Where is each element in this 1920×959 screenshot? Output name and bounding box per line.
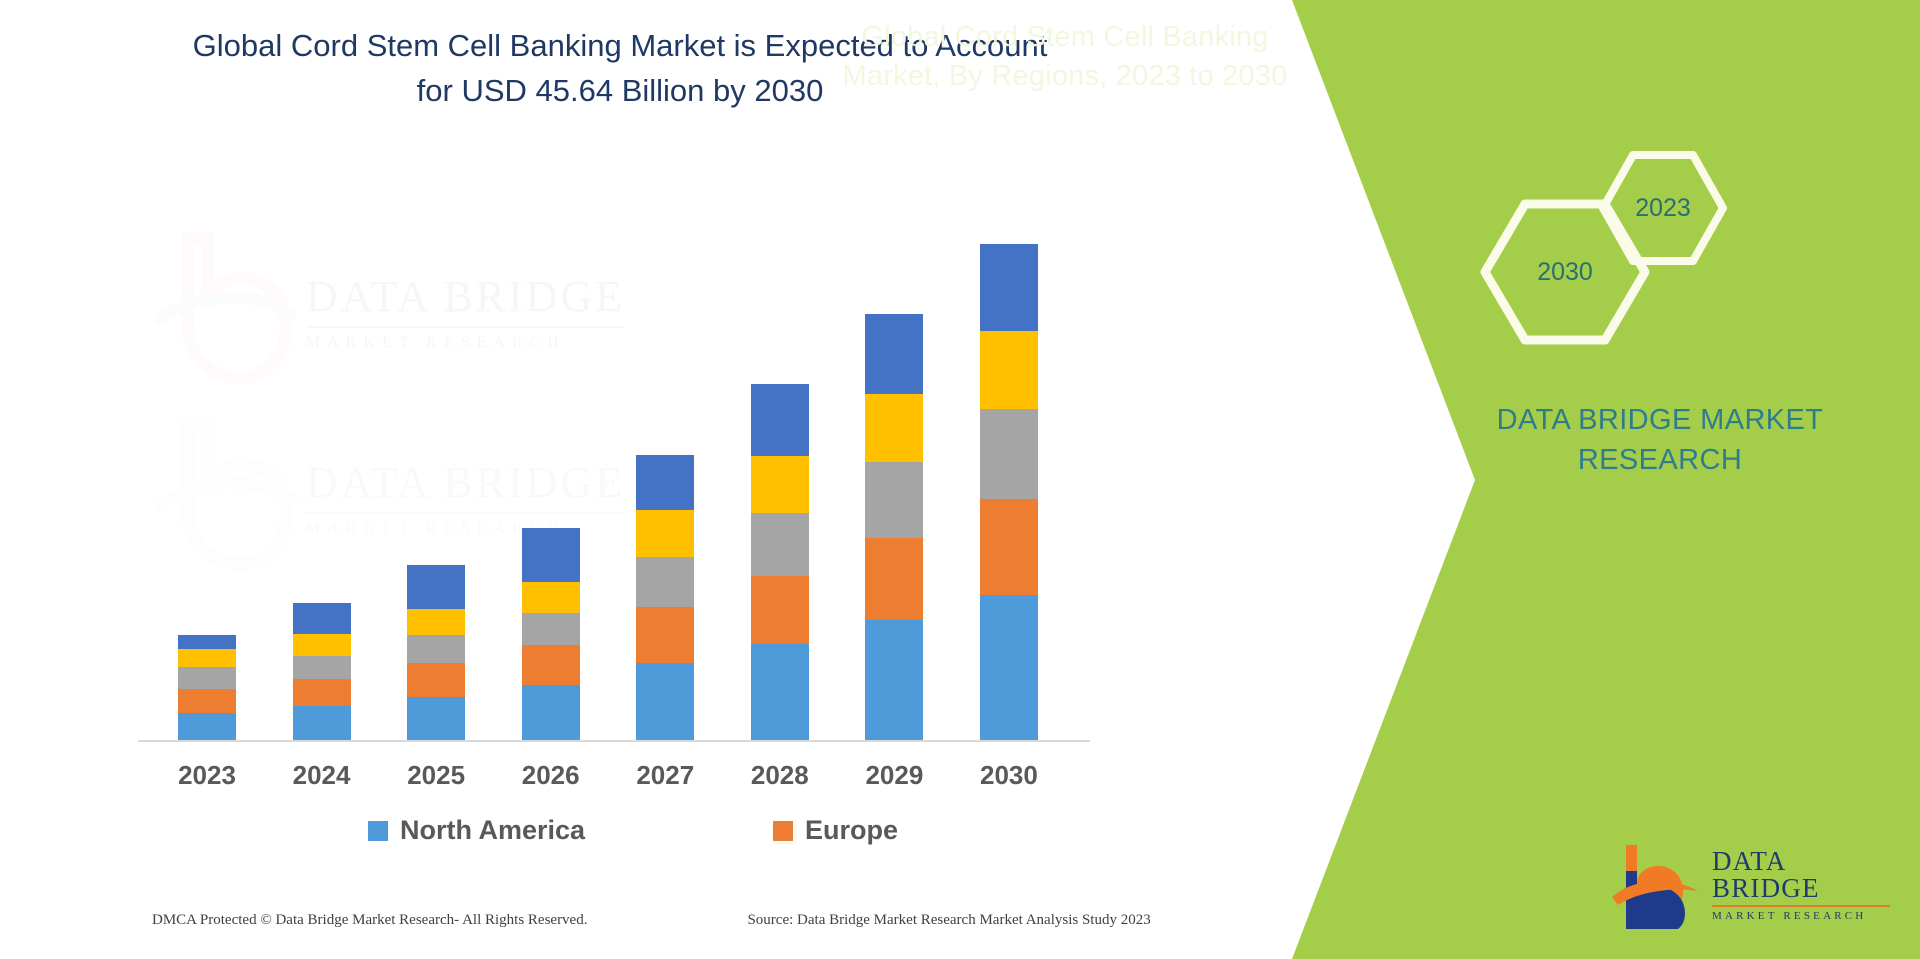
chart-area: Global Cord Stem Cell Banking Market is … xyxy=(0,0,1272,959)
legend-label-europe: Europe xyxy=(805,815,898,846)
bar-segment-north-america[interactable] xyxy=(636,663,694,740)
bar-column-2026[interactable] xyxy=(522,528,580,740)
bar-segment-asia-pacific[interactable] xyxy=(980,409,1038,499)
bar-column-2028[interactable] xyxy=(751,384,809,740)
bar-segment-asia-pacific[interactable] xyxy=(407,635,465,663)
logo-divider xyxy=(1712,905,1890,907)
bar-segment-middle-east-africa[interactable] xyxy=(293,634,351,656)
x-axis-labels: 20232024202520262027202820292030 xyxy=(178,760,1038,791)
bar-segment-asia-pacific[interactable] xyxy=(751,513,809,576)
bar-column-2025[interactable] xyxy=(407,565,465,740)
bar-segment-europe[interactable] xyxy=(293,679,351,706)
bar-segment-asia-pacific[interactable] xyxy=(865,462,923,538)
bar-segment-north-america[interactable] xyxy=(751,644,809,740)
bar-segment-asia-pacific[interactable] xyxy=(178,667,236,689)
data-bridge-logo[interactable]: DATA BRIDGE MARKET RESEARCH xyxy=(1610,839,1890,931)
bar-segment-europe[interactable] xyxy=(407,663,465,697)
bar-segment-asia-pacific[interactable] xyxy=(522,613,580,645)
hexagon-label-2030: 2030 xyxy=(1537,258,1593,287)
panel-brand-name: DATA BRIDGE MARKET RESEARCH xyxy=(1440,400,1880,480)
panel-brand-line-2: RESEARCH xyxy=(1440,440,1880,480)
bar-segment-europe[interactable] xyxy=(522,645,580,685)
x-axis-label-2029: 2029 xyxy=(865,760,923,791)
hexagon-badge-2023[interactable]: 2023 xyxy=(1598,150,1728,266)
bar-segment-europe[interactable] xyxy=(178,689,236,713)
logo-word-market-research: MARKET RESEARCH xyxy=(1712,911,1890,922)
bar-segment-middle-east-africa[interactable] xyxy=(178,649,236,667)
dmca-notice: DMCA Protected © Data Bridge Market Rese… xyxy=(152,912,587,929)
bar-segment-middle-east-africa[interactable] xyxy=(636,510,694,557)
bar-segment-south-america[interactable] xyxy=(178,635,236,649)
bar-column-2023[interactable] xyxy=(178,635,236,740)
chart-legend: North America Europe xyxy=(178,815,1038,846)
bar-segment-north-america[interactable] xyxy=(178,713,236,740)
legend-swatch-north-america xyxy=(368,821,388,841)
bar-segment-north-america[interactable] xyxy=(522,685,580,740)
bar-segment-asia-pacific[interactable] xyxy=(636,557,694,607)
bar-segment-europe[interactable] xyxy=(751,576,809,644)
bar-segment-south-america[interactable] xyxy=(293,603,351,634)
legend-item-europe[interactable]: Europe xyxy=(773,815,898,846)
hexagon-label-2023: 2023 xyxy=(1635,194,1691,223)
bar-segment-middle-east-africa[interactable] xyxy=(407,609,465,635)
data-bridge-b-logo-icon xyxy=(1610,841,1702,929)
source-note: Source: Data Bridge Market Research Mark… xyxy=(747,912,1150,929)
bar-segment-middle-east-africa[interactable] xyxy=(751,456,809,513)
bar-segment-south-america[interactable] xyxy=(636,455,694,510)
bar-group xyxy=(178,180,1038,740)
bar-segment-middle-east-africa[interactable] xyxy=(522,582,580,613)
x-axis-label-2026: 2026 xyxy=(522,760,580,791)
bar-segment-asia-pacific[interactable] xyxy=(293,656,351,679)
bar-segment-south-america[interactable] xyxy=(980,244,1038,331)
panel-brand-line-1: DATA BRIDGE MARKET xyxy=(1440,400,1880,440)
data-bridge-logo-text: DATA BRIDGE MARKET RESEARCH xyxy=(1712,848,1890,922)
bar-column-2027[interactable] xyxy=(636,455,694,740)
bar-column-2030[interactable] xyxy=(980,244,1038,740)
panel-title-line-1: Global Cord Stem Cell Banking xyxy=(240,18,1890,57)
bar-segment-europe[interactable] xyxy=(980,499,1038,595)
bar-segment-south-america[interactable] xyxy=(865,314,923,394)
x-axis-line xyxy=(138,740,1090,742)
bar-segment-south-america[interactable] xyxy=(407,565,465,609)
x-axis-label-2030: 2030 xyxy=(980,760,1038,791)
bar-segment-europe[interactable] xyxy=(636,607,694,663)
infographic-root: Global Cord Stem Cell Banking Market is … xyxy=(0,0,1920,959)
bar-segment-middle-east-africa[interactable] xyxy=(980,331,1038,409)
logo-word-data-bridge: DATA BRIDGE xyxy=(1712,848,1890,902)
x-axis-label-2023: 2023 xyxy=(178,760,236,791)
bar-segment-north-america[interactable] xyxy=(293,706,351,740)
x-axis-label-2024: 2024 xyxy=(293,760,351,791)
bar-column-2024[interactable] xyxy=(293,603,351,740)
bar-segment-north-america[interactable] xyxy=(407,697,465,740)
bar-segment-south-america[interactable] xyxy=(751,384,809,456)
x-axis-label-2027: 2027 xyxy=(636,760,694,791)
x-axis-label-2025: 2025 xyxy=(407,760,465,791)
bar-column-2029[interactable] xyxy=(865,314,923,740)
footer: DMCA Protected © Data Bridge Market Rese… xyxy=(0,912,1272,929)
legend-item-north-america[interactable]: North America xyxy=(368,815,585,846)
bar-segment-middle-east-africa[interactable] xyxy=(865,394,923,462)
bar-segment-south-america[interactable] xyxy=(522,528,580,582)
bar-segment-europe[interactable] xyxy=(865,538,923,620)
stacked-bar-chart xyxy=(178,180,1038,742)
x-axis-label-2028: 2028 xyxy=(751,760,809,791)
bar-segment-north-america[interactable] xyxy=(980,595,1038,740)
panel-title-line-2: Market, By Regions, 2023 to 2030 xyxy=(240,57,1890,96)
legend-swatch-europe xyxy=(773,821,793,841)
hexagon-group: 2030 2023 xyxy=(1480,150,1800,340)
bar-segment-north-america[interactable] xyxy=(865,620,923,740)
legend-label-north-america: North America xyxy=(400,815,585,846)
panel-title: Global Cord Stem Cell Banking Market, By… xyxy=(240,18,1890,96)
